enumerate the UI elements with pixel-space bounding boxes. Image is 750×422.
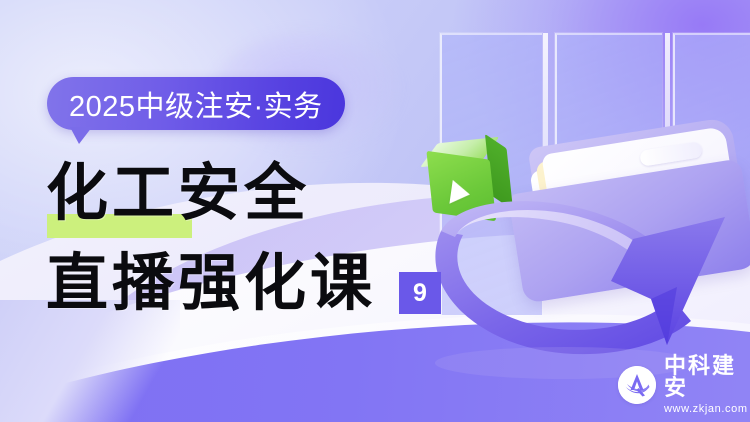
course-category-badge: 2025中级注安·实务 [47,77,345,130]
episode-number-badge: 9 [399,272,441,314]
brand-name: 中科建安 [664,355,750,399]
brand-logo[interactable]: 中科建安 www.zkjan.com [618,355,750,415]
logo-mark-icon [618,366,656,404]
course-promo-banner: 2025中级注安·实务 化工安全 直播强化课 9 中科建安 www.zkjan.… [0,0,750,422]
logo-glyph [618,366,656,404]
background-left-fade [0,300,180,422]
logo-text-block: 中科建安 www.zkjan.com [664,355,750,415]
badge-pointer [70,127,92,144]
page-title-line-2: 直播强化课 [46,253,376,315]
brand-website: www.zkjan.com [664,404,750,415]
page-title-line-1: 化工安全 [46,163,310,225]
badge-label: 2025中级注安·实务 [69,83,323,125]
episode-number-value: 9 [413,279,427,308]
